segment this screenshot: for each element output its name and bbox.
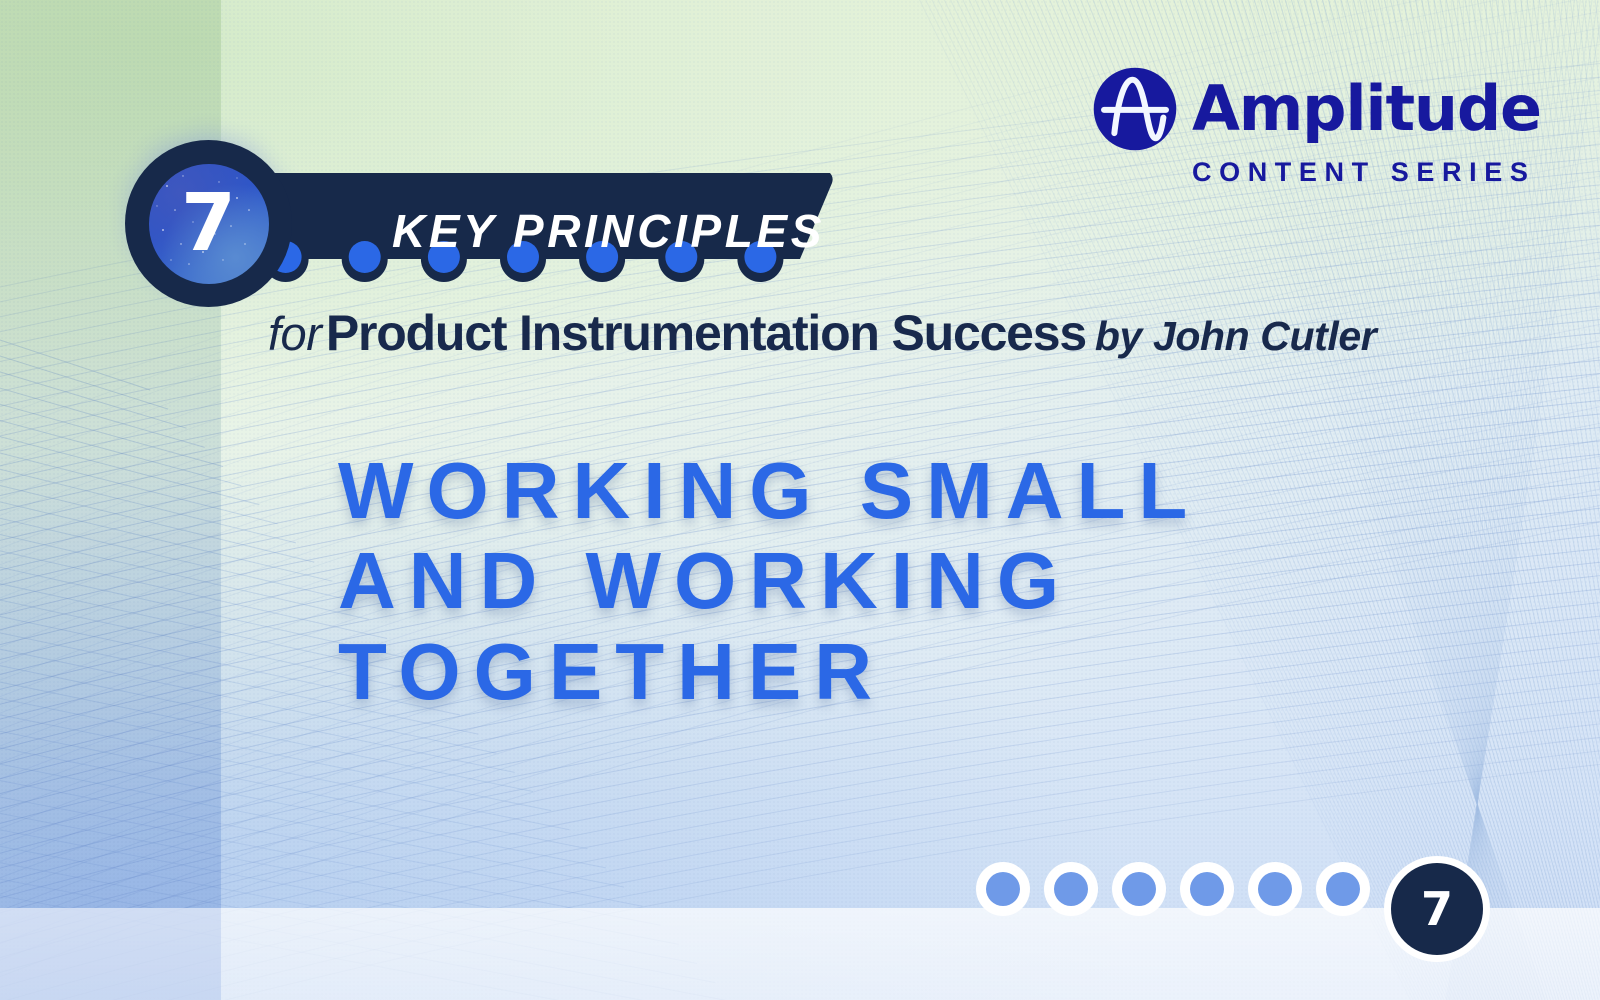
slide-canvas: Amplitude CONTENT SERIES: [0, 0, 1600, 1000]
pagination-dot-fill: [1122, 872, 1156, 906]
pagination-dot[interactable]: [1044, 862, 1098, 916]
subtitle-line: for Product Instrumentation Success by J…: [268, 308, 1376, 358]
subtitle-byline: by John Cutler: [1095, 313, 1376, 359]
key-principles-badge: 7 KEY PRINCIPLES: [84, 96, 784, 316]
headline: WORKING SMALL AND WORKING TOGETHER: [338, 446, 1438, 717]
badge-number-ring: 7: [125, 140, 292, 307]
pagination-dot-fill: [1190, 872, 1224, 906]
pagination-dot[interactable]: [1248, 862, 1302, 916]
headline-line-2: AND WORKING: [338, 536, 1438, 626]
pagination-current-number: 7: [1391, 863, 1483, 955]
headline-line-3: TOGETHER: [338, 627, 1438, 717]
subtitle-main: Product Instrumentation Success: [326, 305, 1086, 361]
pagination-dot[interactable]: [976, 862, 1030, 916]
pagination-dot-fill: [986, 872, 1020, 906]
pagination-current[interactable]: 7: [1384, 856, 1490, 962]
pagination-dot[interactable]: [1180, 862, 1234, 916]
pagination-dot[interactable]: [1316, 862, 1370, 916]
headline-line-1: WORKING SMALL: [338, 446, 1438, 536]
badge-number-disc: 7: [149, 164, 269, 284]
pagination-dot[interactable]: [1112, 862, 1166, 916]
pagination-dot-fill: [1054, 872, 1088, 906]
amplitude-wordmark: Amplitude: [1192, 78, 1541, 140]
pagination-dot-fill: [1258, 872, 1292, 906]
content-series-tagline: CONTENT SERIES: [1192, 157, 1492, 188]
pagination-dot-fill: [1326, 872, 1360, 906]
bottom-light-band: [0, 908, 1600, 1000]
amplitude-wave-icon: [1092, 66, 1178, 152]
bottom-band-left-tint: [0, 908, 221, 1000]
badge-number-text: 7: [181, 184, 236, 263]
badge-label-text: KEY PRINCIPLES: [392, 204, 825, 258]
subtitle-prefix: for: [268, 307, 321, 360]
slide-pagination[interactable]: 7: [976, 862, 1490, 916]
amplitude-logo: Amplitude CONTENT SERIES: [1092, 66, 1492, 178]
